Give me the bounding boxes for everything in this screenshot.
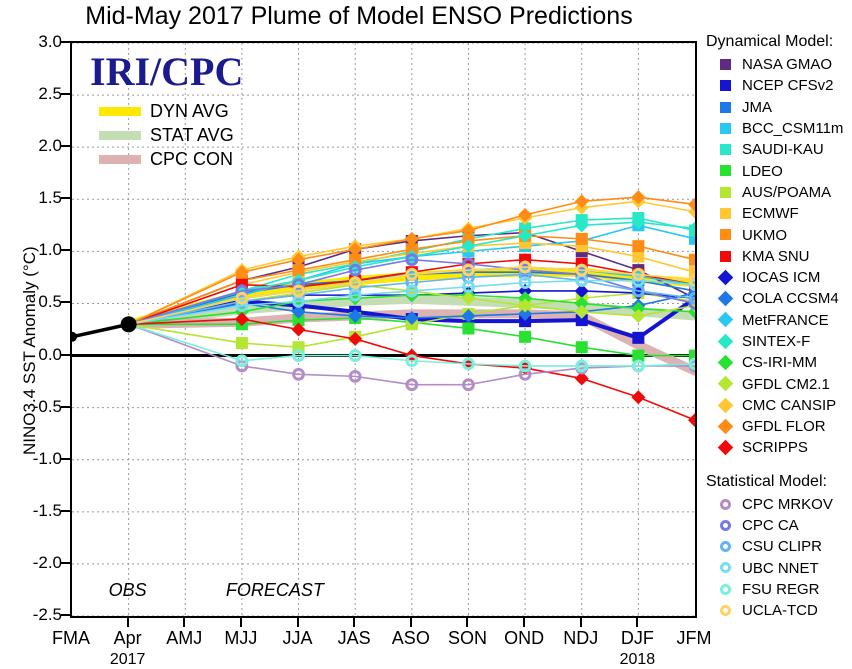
legend-item-ecmwf[interactable]: ECMWF [706,203,852,224]
legend-item-label: CS-IRI-MM [742,354,817,371]
y-tick-mark [61,458,70,460]
legend-item-label: UKMO [742,227,787,244]
marker-square [690,254,696,265]
legend-item-kma-snu[interactable]: KMA SNU [706,246,852,267]
legend-item-ubc-nnet[interactable]: UBC NNET [706,558,852,579]
avg-legend-label: DYN AVG [150,101,229,122]
legend-header-dynamical: Dynamical Model: [706,33,852,51]
page-title: Mid-May 2017 Plume of Model ENSO Predict… [0,2,718,31]
legend-item-aus-poama[interactable]: AUS/POAMA [706,182,852,203]
x-tick-mark [636,618,638,627]
legend-item-label: CPC MRKOV [742,496,833,513]
legend-item-label: FSU REGR [742,581,820,598]
legend-item-scripps[interactable]: SCRIPPS [706,437,852,458]
avg-legend-swatch [99,131,141,140]
legend-dynamical-list: NASA GMAONCEP CFSv2JMABCC_CSM11mSAUDI-KA… [706,54,852,459]
legend-item-label: LDEO [742,163,783,180]
x-tick-mark [183,618,185,627]
legend-marker-square-icon [714,247,736,265]
legend-marker-diamond-icon [714,396,736,414]
legend-marker-diamond-icon [714,311,736,329]
x-tick-label: SON [448,628,487,649]
legend-marker-square-icon [714,183,736,201]
y-tick-label: -2.5 [2,605,62,625]
y-tick-label: -2.0 [2,553,62,573]
y-tick-mark [61,249,70,251]
marker-square [576,342,587,353]
marker-diamond [689,414,695,427]
y-tick-mark [61,354,70,356]
y-tick-label: 0.0 [2,345,62,365]
y-tick-mark [61,562,70,564]
legend-item-label: SCRIPPS [742,439,808,456]
legend-item-label: AUS/POAMA [742,184,831,201]
legend-item-metfrance[interactable]: MetFRANCE [706,310,852,331]
avg-legend-item-cpc-con[interactable]: CPC CON [99,148,234,170]
legend-item-label: CSU CLIPR [742,538,822,555]
marker-square [633,332,644,343]
iri-cpc-wordmark: IRI/CPC [90,48,243,95]
legend-marker-square-icon [714,141,736,159]
legend-marker-square-icon [714,205,736,223]
y-tick-label: 2.0 [2,136,62,156]
legend-item-label: CMC CANSIP [742,397,836,414]
legend-marker-diamond-icon [714,375,736,393]
legend-item-label: JMA [742,99,772,116]
avg-legend-swatch [99,107,141,116]
legend-marker-square-icon [714,77,736,95]
legend-item-label: COLA CCSM4 [742,290,839,307]
legend-item-cs-iri-mm[interactable]: CS-IRI-MM [706,352,852,373]
marker-square [520,331,531,342]
legend-item-label: ECMWF [742,205,799,222]
legend-marker-square-icon [714,120,736,138]
legend-marker-square-icon [714,162,736,180]
x-tick-label: JAS [338,628,371,649]
legend-item-label: MetFRANCE [742,312,829,329]
y-tick-mark [61,197,70,199]
x-tick-mark [127,618,129,627]
legend-item-label: UCLA-TCD [742,602,818,619]
x-tick-mark [240,618,242,627]
legend-item-label: SINTEX-F [742,333,810,350]
x-axis-year-left: 2017 [110,651,146,669]
legend-item-ncep-cfsv2[interactable]: NCEP CFSv2 [706,75,852,96]
legend-item-csu-clipr[interactable]: CSU CLIPR [706,536,852,557]
y-tick-label: 1.5 [2,188,62,208]
x-tick-label: NDJ [563,628,598,649]
avg-legend-label: CPC CON [150,149,233,170]
legend-item-gfdl-cm2-1[interactable]: GFDL CM2.1 [706,373,852,394]
legend-header-statistical: Statistical Model: [706,473,852,491]
legend-item-ucla-tcd[interactable]: UCLA-TCD [706,600,852,621]
y-tick-mark [61,93,70,95]
legend-item-label: GFDL CM2.1 [742,376,830,393]
marker-diamond [632,391,645,404]
obs-period-label: OBS [109,580,147,601]
y-tick-label: -1.0 [2,449,62,469]
legend-marker-diamond-icon [714,418,736,436]
x-tick-mark [297,618,299,627]
avg-legend-item-dyn-avg[interactable]: DYN AVG [99,100,234,122]
x-tick-mark [410,618,412,627]
y-tick-label: -1.5 [2,501,62,521]
legend-item-cpc-mrkov[interactable]: CPC MRKOV [706,494,852,515]
observations [72,316,137,342]
legend-marker-diamond-icon [714,439,736,457]
legend-marker-diamond-icon [714,290,736,308]
marker-square [633,350,644,361]
legend-marker-circle-icon [714,602,736,620]
legend-item-label: UBC NNET [742,560,819,577]
x-tick-label: FMA [52,628,90,649]
marker-square [236,338,247,349]
y-tick-label: -0.5 [2,397,62,417]
legend-marker-square-icon [714,98,736,116]
y-tick-label: 2.5 [2,84,62,104]
legend-item-label: NASA GMAO [742,56,832,73]
legend-item-label: CPC CA [742,517,799,534]
legend-item-label: SAUDI-KAU [742,141,824,158]
avg-legend-label: STAT AVG [150,125,234,146]
legend-marker-circle-icon [714,580,736,598]
legend-marker-circle-icon [714,559,736,577]
legend-item-label: BCC_CSM11m [742,120,843,137]
y-tick-mark [61,301,70,303]
legend-marker-diamond-icon [714,269,736,287]
legend-item-gfdl-flor[interactable]: GFDL FLOR [706,416,852,437]
legend-marker-circle-icon [714,517,736,535]
x-tick-label: JJA [283,628,313,649]
legend-marker-diamond-icon [714,333,736,351]
y-tick-mark [61,41,70,43]
marker-square [576,233,587,244]
model-legend: Dynamical Model: NASA GMAONCEP CFSv2JMAB… [706,33,852,621]
legend-item-nasa-gmao[interactable]: NASA GMAO [706,54,852,75]
avg-legend-item-stat-avg[interactable]: STAT AVG [99,124,234,146]
legend-item-label: NCEP CFSv2 [742,77,833,94]
y-tick-label: 0.5 [2,292,62,312]
y-tick-mark [61,145,70,147]
forecast-period-label: FORECAST [226,580,324,601]
x-tick-label: Apr [114,628,142,649]
x-tick-label: DJF [621,628,654,649]
legend-item-cmc-cansip[interactable]: CMC CANSIP [706,395,852,416]
legend-marker-diamond-icon [714,354,736,372]
y-tick-label: 1.0 [2,240,62,260]
x-tick-label: ASO [392,628,430,649]
y-tick-mark [61,510,70,512]
obs-point [121,316,137,332]
legend-item-ldeo[interactable]: LDEO [706,160,852,181]
legend-marker-square-icon [714,56,736,74]
x-tick-mark [523,618,525,627]
legend-spacer [706,459,852,473]
legend-marker-square-icon [714,226,736,244]
marker-square [463,323,474,334]
average-lines-legend: DYN AVGSTAT AVGCPC CON [99,100,234,172]
y-tick-label: 3.0 [2,32,62,52]
legend-marker-circle-icon [714,538,736,556]
legend-item-label: GFDL FLOR [742,418,826,435]
x-axis-year-right: 2018 [620,651,656,669]
x-tick-mark [580,618,582,627]
legend-item-label: KMA SNU [742,248,810,265]
legend-item-fsu-regr[interactable]: FSU REGR [706,579,852,600]
legend-item-iocas-icm[interactable]: IOCAS ICM [706,267,852,288]
x-tick-label: MJJ [224,628,257,649]
marker-square [633,241,644,252]
legend-statistical-list: CPC MRKOVCPC CACSU CLIPRUBC NNETFSU REGR… [706,494,852,622]
avg-legend-swatch [99,155,141,164]
legend-item-label: IOCAS ICM [742,269,820,286]
legend-item-jma[interactable]: JMA [706,97,852,118]
obs-line [72,324,129,337]
legend-item-ukmo[interactable]: UKMO [706,224,852,245]
y-tick-mark [61,614,70,616]
x-tick-label: OND [504,628,544,649]
legend-item-bcc_csm11m[interactable]: BCC_CSM11m [706,118,852,139]
legend-marker-circle-icon [714,495,736,513]
x-tick-mark [466,618,468,627]
legend-item-cpc-ca[interactable]: CPC CA [706,515,852,536]
x-tick-label: AMJ [166,628,202,649]
legend-item-sintex-f[interactable]: SINTEX-F [706,331,852,352]
marker-square [633,251,644,262]
x-tick-mark [353,618,355,627]
legend-item-cola-ccsm4[interactable]: COLA CCSM4 [706,288,852,309]
obs-point [72,332,77,342]
legend-item-saudi-kau[interactable]: SAUDI-KAU [706,139,852,160]
y-tick-mark [61,406,70,408]
x-tick-label: JFM [677,628,712,649]
